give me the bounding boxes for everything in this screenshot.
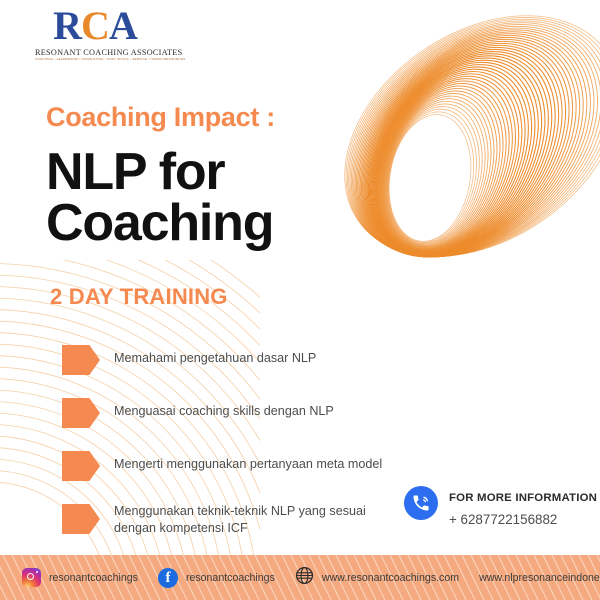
phone-ringing-icon	[404, 486, 438, 520]
list-item: Memahami pengetahuan dasar NLP	[62, 344, 402, 375]
page-title: NLP for Coaching	[46, 147, 273, 250]
contact-heading: FOR MORE INFORMATION	[449, 492, 597, 504]
list-item-label: Menggunakan teknik-teknik NLP yang sesua…	[114, 503, 402, 537]
title-line-2: Coaching	[46, 198, 273, 249]
list-item-label: Memahami pengetahuan dasar NLP	[114, 344, 316, 367]
logo-tagline: COACHING • LEADERSHIP • CONSULTING • SOF…	[35, 58, 155, 61]
arrow-marker-icon	[62, 504, 100, 534]
eyebrow-text: Coaching Impact :	[46, 102, 275, 133]
arrow-marker-icon	[62, 398, 100, 428]
contact-block: FOR MORE INFORMATION + 6287722156882	[404, 486, 597, 527]
benefit-list: Memahami pengetahuan dasar NLP Menguasai…	[62, 344, 402, 559]
facebook-handle: resonantcoachings	[186, 572, 275, 584]
website-url-primary: www.resonantcoachings.com	[322, 572, 459, 584]
list-item: Menggunakan teknik-teknik NLP yang sesua…	[62, 503, 402, 537]
instagram-handle: resonantcoachings	[49, 572, 138, 584]
social-item-facebook[interactable]: f resonantcoachings	[158, 568, 275, 588]
logo-letter-a: A	[109, 3, 137, 48]
list-item: Menguasai coaching skills dengan NLP	[62, 397, 402, 428]
logo-wordmark: RCA	[35, 6, 155, 46]
logo-letter-r: R	[53, 3, 81, 48]
spiral-decoration	[310, 0, 600, 366]
footer-content: resonantcoachings f resonantcoachings ww…	[0, 555, 600, 600]
social-item-instagram[interactable]: resonantcoachings	[22, 568, 138, 587]
arrow-marker-icon	[62, 345, 100, 375]
list-item: Mengerti menggunakan pertanyaan meta mod…	[62, 450, 402, 481]
list-item-label: Mengerti menggunakan pertanyaan meta mod…	[114, 450, 382, 473]
instagram-icon	[22, 568, 41, 587]
facebook-icon: f	[158, 568, 178, 588]
globe-icon	[295, 566, 314, 590]
social-item-website[interactable]: www.resonantcoachings.com	[295, 566, 459, 590]
list-item-label: Menguasai coaching skills dengan NLP	[114, 397, 334, 420]
contact-text-group: FOR MORE INFORMATION + 6287722156882	[449, 486, 597, 527]
arrow-marker-icon	[62, 451, 100, 481]
brand-logo: RCA RESONANT COACHING ASSOCIATES COACHIN…	[35, 6, 155, 61]
footer-bar: resonantcoachings f resonantcoachings ww…	[0, 555, 600, 600]
poster-canvas: RCA RESONANT COACHING ASSOCIATES COACHIN…	[0, 0, 600, 600]
contact-phone-number[interactable]: + 6287722156882	[449, 512, 597, 527]
logo-letter-c: C	[81, 3, 109, 48]
website-url-secondary: www.nlpresonanceindonesia..com	[479, 572, 600, 584]
title-line-1: NLP for	[46, 147, 273, 198]
social-item-website-secondary[interactable]: www.nlpresonanceindonesia..com	[479, 572, 600, 584]
logo-company-name: RESONANT COACHING ASSOCIATES	[35, 49, 155, 57]
subtitle-text: 2 DAY TRAINING	[50, 284, 228, 310]
